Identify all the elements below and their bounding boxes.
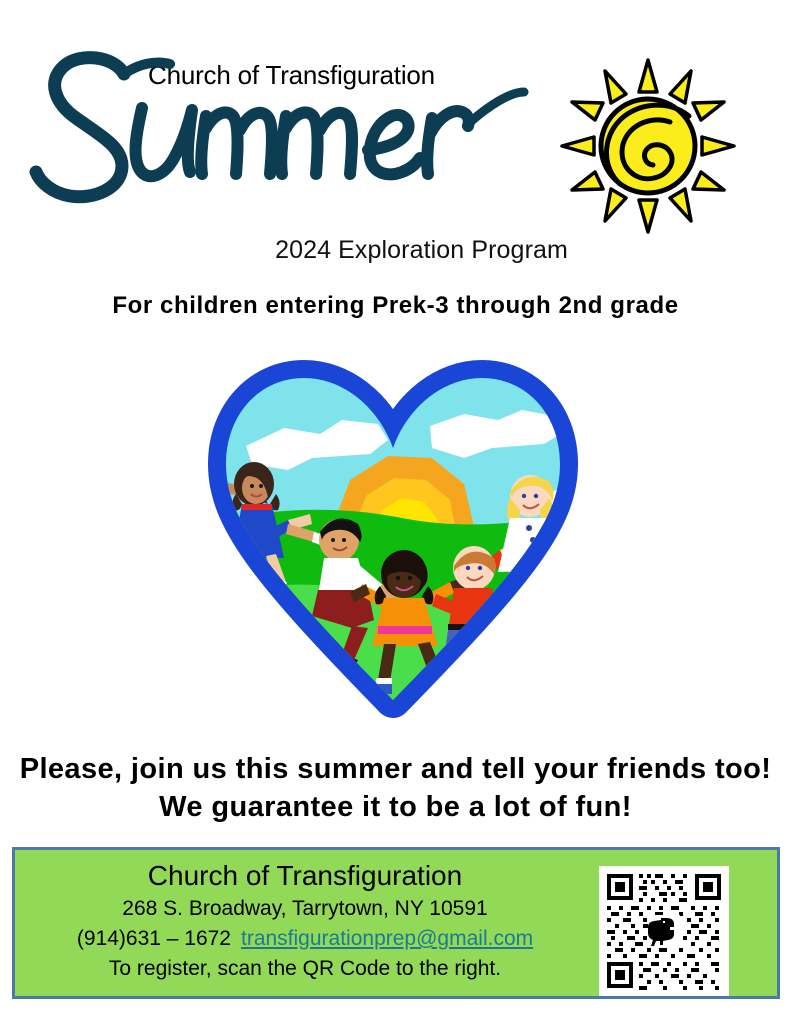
dinosaur-icon <box>648 915 680 947</box>
heart-children-illustration <box>192 328 594 746</box>
contact-email-link[interactable]: transfigurationprep@gmail.com <box>231 927 533 950</box>
contact-address: 268 S. Broadway, Tarrytown, NY 10591 <box>15 894 595 924</box>
cta-line-1: Please, join us this summer and tell you… <box>0 750 791 788</box>
flyer-page: Church of Transfiguration <box>0 0 791 1024</box>
cta-line-2: We guarantee it to be a lot of fun! <box>0 788 791 826</box>
sun-icon <box>558 56 738 236</box>
contact-details: Church of Transfiguration 268 S. Broadwa… <box>15 858 595 984</box>
summer-wordmark <box>18 46 598 216</box>
contact-register-note: To register, scan the QR Code to the rig… <box>15 954 595 984</box>
program-subtitle-text: 2024 Exploration Program <box>223 236 568 264</box>
qr-code[interactable] <box>599 866 729 996</box>
contact-phone-row: (914)631 – 1672transfigurationprep@gmail… <box>15 924 595 954</box>
contact-panel: Church of Transfiguration 268 S. Broadwa… <box>12 847 780 999</box>
call-to-action: Please, join us this summer and tell you… <box>0 750 791 826</box>
program-subtitle: 2024 Exploration Program <box>0 236 791 265</box>
contact-church-name: Church of Transfiguration <box>15 858 595 894</box>
contact-phone: (914)631 – 1672 <box>77 927 231 950</box>
audience-line: For children entering Prek-3 through 2nd… <box>0 292 791 320</box>
